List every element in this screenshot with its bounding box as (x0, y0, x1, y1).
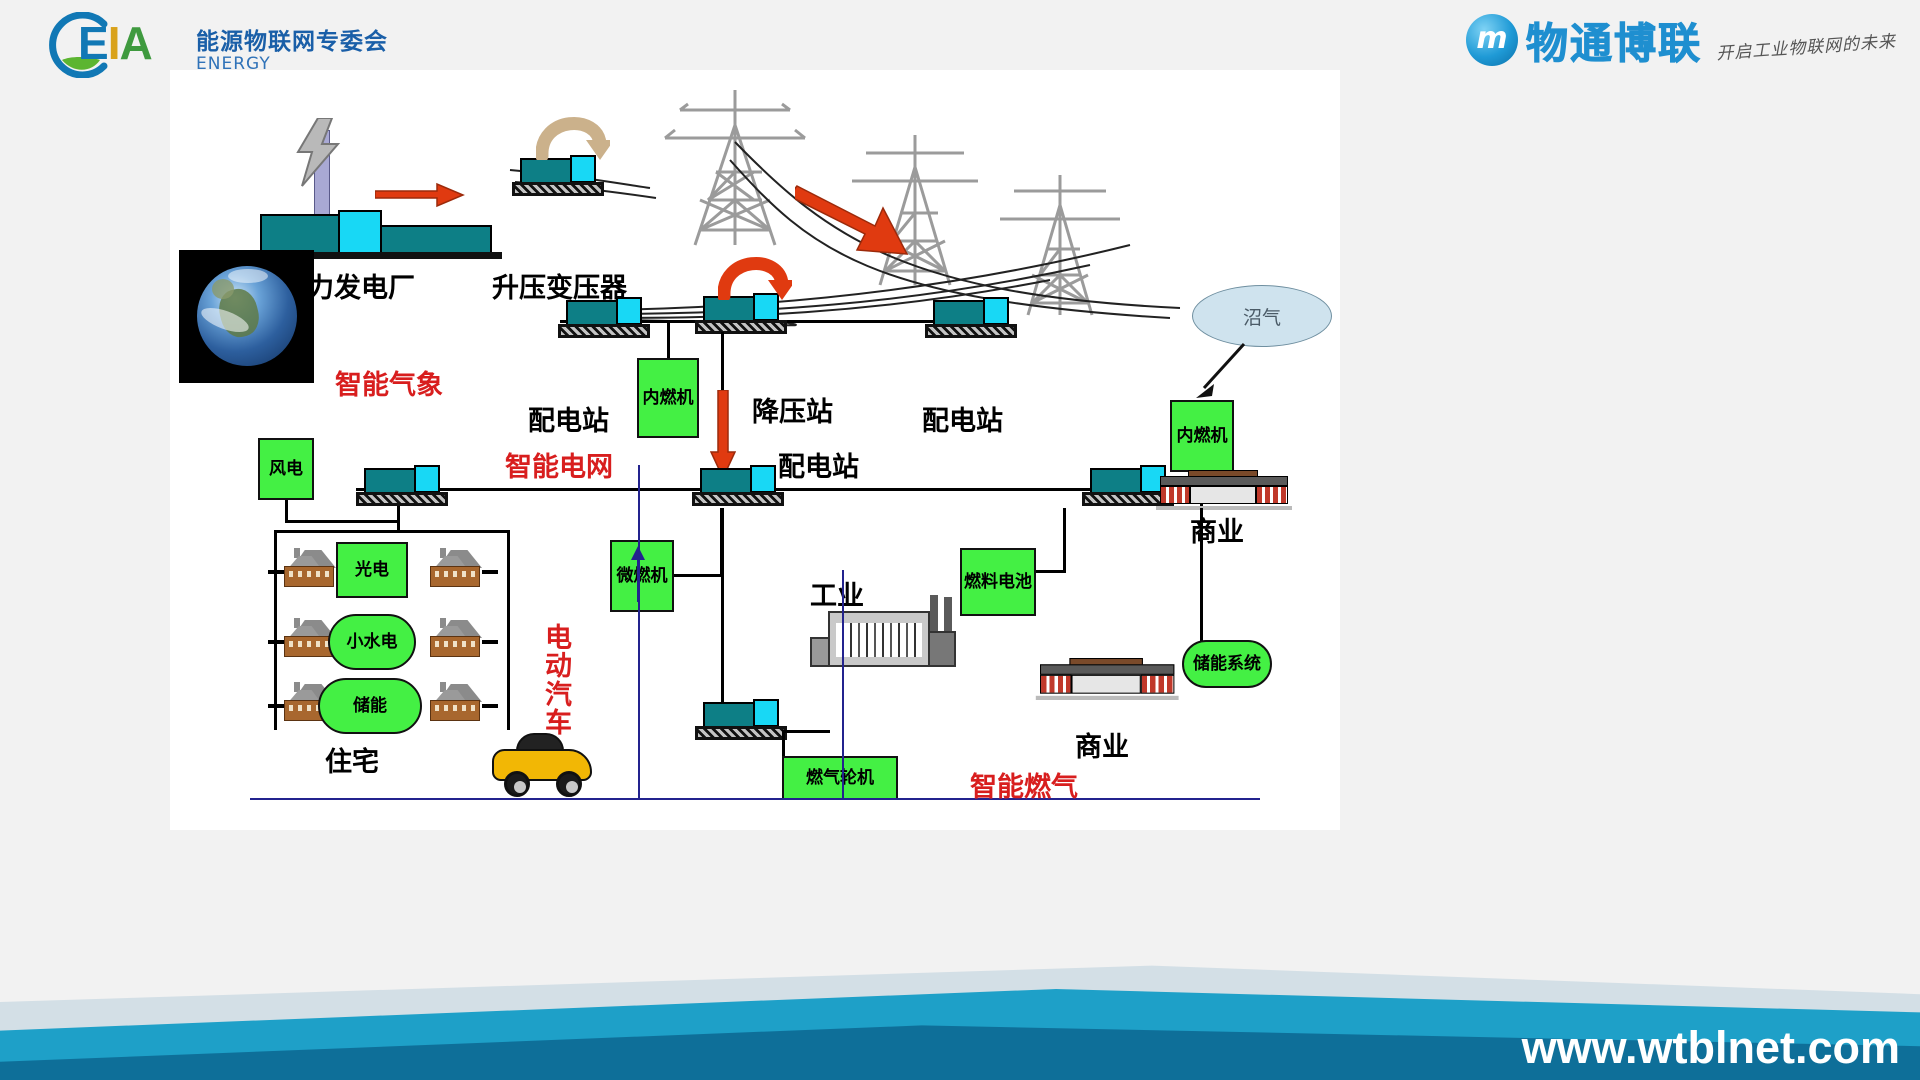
green-box-wind: 风电 (258, 438, 314, 500)
line-to-industry-substation (721, 508, 724, 720)
line-fuelcell-v (1063, 508, 1066, 572)
label-electric-vehicle: 电动汽车 (545, 625, 579, 738)
biogas-ellipse: 沼气 (1192, 285, 1332, 347)
label-smart-gas: 智能燃气 (970, 765, 1078, 804)
green-box-energy-storage-system: 储能系统 (1182, 640, 1272, 688)
green-box-small-hydro: 小水电 (328, 614, 416, 670)
arrow-biogas-to-ice (1188, 340, 1258, 404)
label-distribution-station-left: 配电站 (528, 399, 609, 438)
industry-substation-icon (695, 702, 787, 742)
house-icon (428, 548, 484, 590)
label-residential: 住宅 (325, 740, 379, 779)
arrow-down-to-distribution (710, 390, 736, 480)
commercial-building-lower-icon (1040, 658, 1174, 702)
line-to-gas-turbine (782, 730, 785, 758)
line-to-commercial-lower (1200, 508, 1203, 656)
arrow-step-up-curve (536, 110, 610, 160)
distribution-station-right-icon (925, 300, 1017, 340)
line-wind-drop (285, 500, 288, 522)
residential-substation-icon (356, 468, 448, 508)
house-icon (428, 618, 484, 660)
green-box-ice-mid: 内燃机 (637, 358, 699, 438)
label-distribution-station-right: 配电站 (922, 399, 1003, 438)
label-commercial-lower: 商业 (1075, 725, 1129, 764)
distribution-station-mid-icon (692, 468, 784, 508)
step-up-transformer-icon (512, 158, 604, 198)
wtbl-mark-letter: m (1466, 20, 1518, 58)
arrow-step-down-curve (718, 250, 792, 300)
label-step-down-station: 降压站 (752, 390, 833, 429)
green-box-fuel-cell: 燃料电池 (960, 548, 1036, 616)
residential-box-left (274, 530, 277, 730)
arrow-transmission-big (795, 180, 915, 270)
gas-main-line (250, 798, 1260, 800)
residential-box-top (274, 530, 510, 533)
site-url[interactable]: www.wtblnet.com (1522, 1022, 1900, 1074)
residential-box-right (507, 530, 510, 730)
commercial-building-upper-icon (1160, 470, 1288, 512)
arrow-plant-to-transformer (375, 182, 465, 208)
earth-image (179, 250, 314, 383)
ceia-cn-name: 能源物联网专委会 (196, 22, 388, 56)
house-icon (282, 548, 338, 590)
gas-riser-1 (638, 465, 640, 798)
house-icon (428, 682, 484, 724)
step-down-station-icon (695, 296, 787, 336)
distribution-station-left-icon (558, 300, 650, 340)
smart-grid-diagram: 主力发电厂 升压变压器 智能气象 配电站 降压站 配电站 (170, 70, 1340, 830)
factory-icon (810, 595, 970, 670)
green-box-gas-turbine: 燃气轮机 (782, 756, 898, 800)
gas-arrow-up-1 (628, 544, 650, 604)
label-smart-weather: 智能气象 (335, 363, 443, 402)
wtbl-logo: m 物通博联 开启工业物联网的未来 (1466, 4, 1896, 76)
line-fuelcell-h (1036, 570, 1066, 573)
line-wind-to-residential (285, 520, 397, 523)
green-box-storage: 储能 (318, 678, 422, 734)
line-industry-h (782, 730, 830, 733)
page-footer: www.wtblnet.com (0, 950, 1920, 1080)
gas-riser-2 (842, 570, 844, 798)
wtbl-brand: 物通博联 (1526, 10, 1702, 71)
wtbl-logo-mark: m (1466, 14, 1518, 66)
label-commercial-upper: 商业 (1190, 510, 1244, 549)
line-substation-drop (397, 506, 400, 532)
wtbl-slogan: 开启工业物联网的未来 (1715, 26, 1896, 63)
label-smart-grid: 智能电网 (505, 445, 613, 484)
electric-vehicle-icon (488, 725, 598, 797)
line-microturbine-h (674, 574, 722, 577)
label-distribution-station-mid: 配电站 (778, 445, 859, 484)
green-box-ice-right: 内燃机 (1170, 400, 1234, 472)
ceia-wordmark: EIA (78, 16, 152, 70)
green-box-pv: 光电 (336, 542, 408, 598)
